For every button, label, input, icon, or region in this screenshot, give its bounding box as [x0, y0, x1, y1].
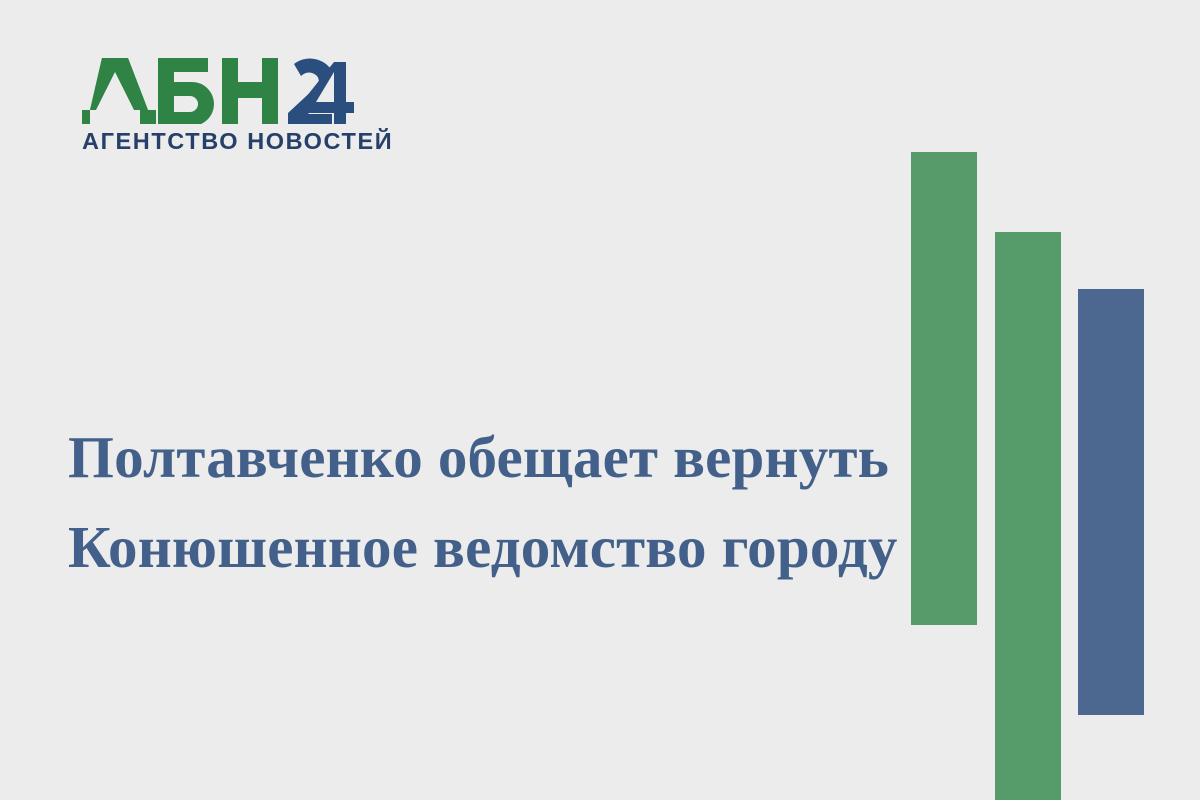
decorative-bar-medium-green: [995, 232, 1061, 800]
headline-line-1: Полтавченко обещает вернуть: [68, 412, 868, 502]
decorative-bar-tall-green: [911, 152, 977, 625]
headline: Полтавченко обещает вернуть Конюшенное в…: [68, 412, 868, 592]
headline-line-2: Конюшенное ведомство городу: [68, 502, 868, 592]
news-card: АГЕНТСТВО НОВОСТЕЙ Полтавченко обещает в…: [0, 0, 1200, 800]
brand-logo[interactable]: АГЕНТСТВО НОВОСТЕЙ: [82, 58, 382, 154]
brand-tagline: АГЕНТСТВО НОВОСТЕЙ: [82, 130, 382, 154]
decorative-bar-short-blue: [1078, 289, 1144, 715]
logo-wordmark-icon: [82, 58, 382, 124]
